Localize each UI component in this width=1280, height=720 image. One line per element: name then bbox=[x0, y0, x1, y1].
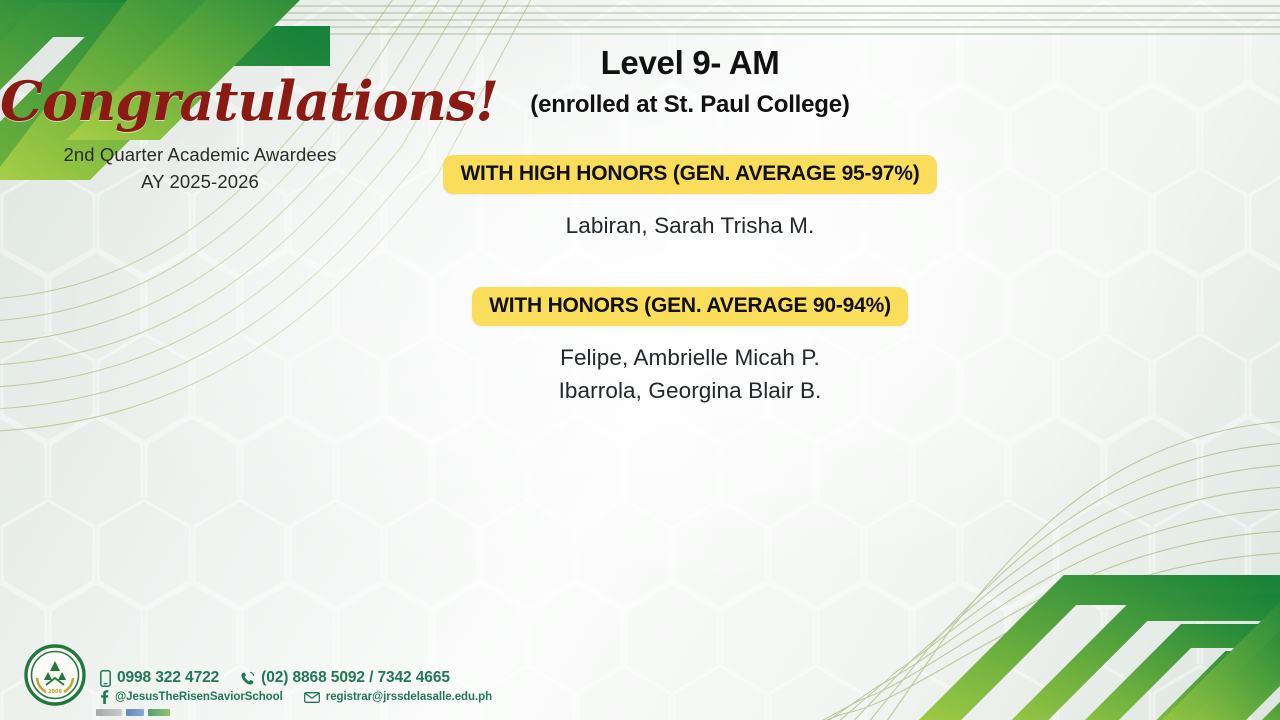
partner-logos bbox=[96, 709, 170, 716]
congratulations-block: Congratulations! 2nd Quarter Academic Aw… bbox=[0, 74, 400, 196]
awardees-subtitle-line1: 2nd Quarter Academic Awardees bbox=[0, 142, 400, 169]
awardees-subtitle-line2: AY 2025-2026 bbox=[0, 169, 400, 196]
page-title: Level 9- AM bbox=[380, 44, 1000, 82]
status-badge-with-honors: WITH HONORS (GEN. AVERAGE 90-94%) bbox=[472, 287, 908, 326]
honors-section-standard: WITH HONORS (GEN. AVERAGE 90-94%) Felipe… bbox=[380, 287, 1000, 408]
list-item: Labiran, Sarah Trisha M. bbox=[380, 210, 1000, 243]
email-address: registrar@jrssdelasalle.edu.ph bbox=[326, 691, 492, 703]
facebook-icon bbox=[100, 690, 109, 704]
seal-year-text: 2008 bbox=[48, 689, 62, 695]
page-subtitle: (enrolled at St. Paul College) bbox=[380, 91, 1000, 119]
awardee-list-honors: Felipe, Ambrielle Micah P. Ibarrola, Geo… bbox=[380, 342, 1000, 408]
honors-section-high: WITH HIGH HONORS (GEN. AVERAGE 95-97%) L… bbox=[380, 155, 1000, 243]
main-content-column: Level 9- AM (enrolled at St. Paul Colleg… bbox=[380, 0, 1000, 408]
contact-info: 0998 322 4722 (02) 8868 5092 / 7342 4665… bbox=[100, 669, 492, 704]
status-badge-with-high-honors: WITH HIGH HONORS (GEN. AVERAGE 95-97%) bbox=[443, 155, 936, 194]
landline-number: (02) 8868 5092 / 7342 4665 bbox=[261, 669, 450, 687]
awardee-list-high-honors: Labiran, Sarah Trisha M. bbox=[380, 210, 1000, 243]
envelope-icon bbox=[304, 692, 320, 703]
list-item: Ibarrola, Georgina Blair B. bbox=[380, 375, 1000, 408]
list-item: Felipe, Ambrielle Micah P. bbox=[380, 342, 1000, 375]
slide-canvas: Congratulations! 2nd Quarter Academic Aw… bbox=[0, 0, 1280, 720]
mobile-phone-icon bbox=[100, 670, 111, 687]
telephone-icon bbox=[240, 671, 255, 686]
footer-bar: 2008 0998 322 4722 bbox=[0, 634, 1280, 720]
congratulations-heading: Congratulations! bbox=[0, 74, 400, 128]
school-seal-logo: 2008 bbox=[24, 644, 86, 706]
facebook-handle: @JesusTheRisenSaviorSchool bbox=[115, 691, 283, 703]
mobile-number: 0998 322 4722 bbox=[117, 669, 219, 687]
